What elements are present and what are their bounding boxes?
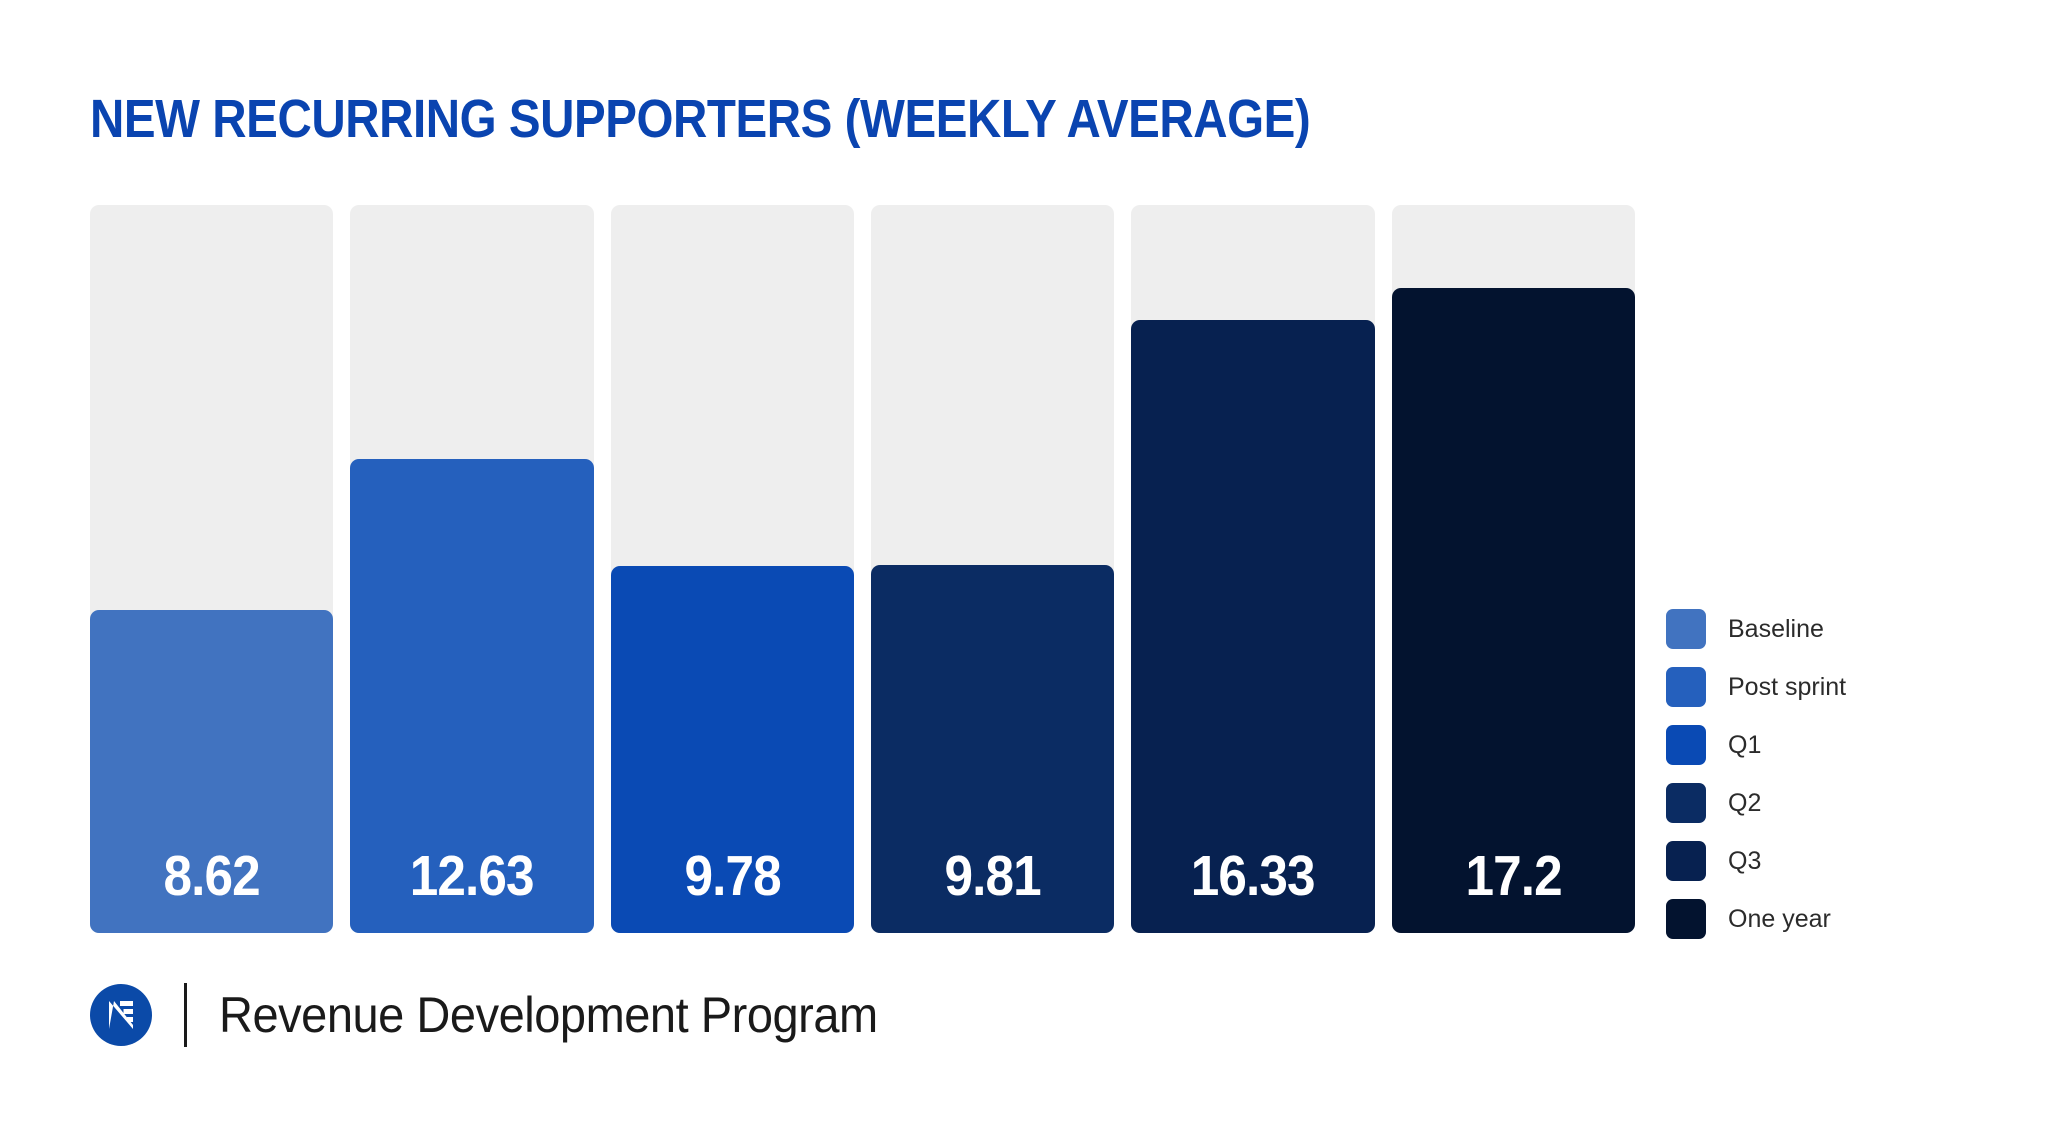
legend-swatch [1666, 899, 1706, 939]
bar-group[interactable]: 12.63 [350, 205, 593, 933]
bar-chart-plot-area: 8.6212.639.789.8116.3317.2 [90, 205, 1635, 933]
bar-group[interactable]: 9.81 [871, 205, 1114, 933]
bar-group[interactable]: 17.2 [1392, 205, 1635, 933]
bar-value-label: 17.2 [1404, 848, 1623, 905]
bar-fill[interactable]: 8.62 [90, 610, 333, 933]
footer: Revenue Development Program [90, 975, 920, 1055]
legend-item[interactable]: Q3 [1666, 832, 1996, 890]
bar-value-label: 8.62 [102, 848, 321, 905]
legend-swatch [1666, 609, 1706, 649]
bar-group[interactable]: 9.78 [611, 205, 854, 933]
legend-label: Q3 [1728, 847, 1761, 876]
bar-fill[interactable]: 9.78 [611, 566, 854, 933]
legend-item[interactable]: Q2 [1666, 774, 1996, 832]
slide-canvas: NEW RECURRING SUPPORTERS (WEEKLY AVERAGE… [0, 0, 2048, 1138]
program-name: Revenue Development Program [219, 986, 878, 1044]
brand-mark-icon [90, 984, 152, 1046]
legend-swatch [1666, 783, 1706, 823]
bar-fill[interactable]: 16.33 [1131, 320, 1374, 933]
legend-swatch [1666, 667, 1706, 707]
bar-fill[interactable]: 17.2 [1392, 288, 1635, 933]
page-title: NEW RECURRING SUPPORTERS (WEEKLY AVERAGE… [90, 92, 1310, 146]
legend-item[interactable]: One year [1666, 890, 1996, 948]
legend-item[interactable]: Baseline [1666, 600, 1996, 658]
legend-swatch [1666, 841, 1706, 881]
legend-label: Q1 [1728, 731, 1761, 760]
legend-swatch [1666, 725, 1706, 765]
legend-label: One year [1728, 905, 1831, 934]
legend-label: Baseline [1728, 615, 1824, 644]
legend-label: Post sprint [1728, 673, 1846, 702]
legend-item[interactable]: Q1 [1666, 716, 1996, 774]
bar-value-label: 9.78 [623, 848, 842, 905]
footer-divider [184, 983, 187, 1047]
bar-fill[interactable]: 12.63 [350, 459, 593, 933]
bar-value-label: 9.81 [883, 848, 1102, 905]
legend-item[interactable]: Post sprint [1666, 658, 1996, 716]
bar-group[interactable]: 16.33 [1131, 205, 1374, 933]
chart-legend: BaselinePost sprintQ1Q2Q3One year [1666, 600, 1996, 948]
bar-fill[interactable]: 9.81 [871, 565, 1114, 933]
bar-value-label: 16.33 [1143, 848, 1362, 905]
legend-label: Q2 [1728, 789, 1761, 818]
bar-group[interactable]: 8.62 [90, 205, 333, 933]
bar-value-label: 12.63 [362, 848, 581, 905]
